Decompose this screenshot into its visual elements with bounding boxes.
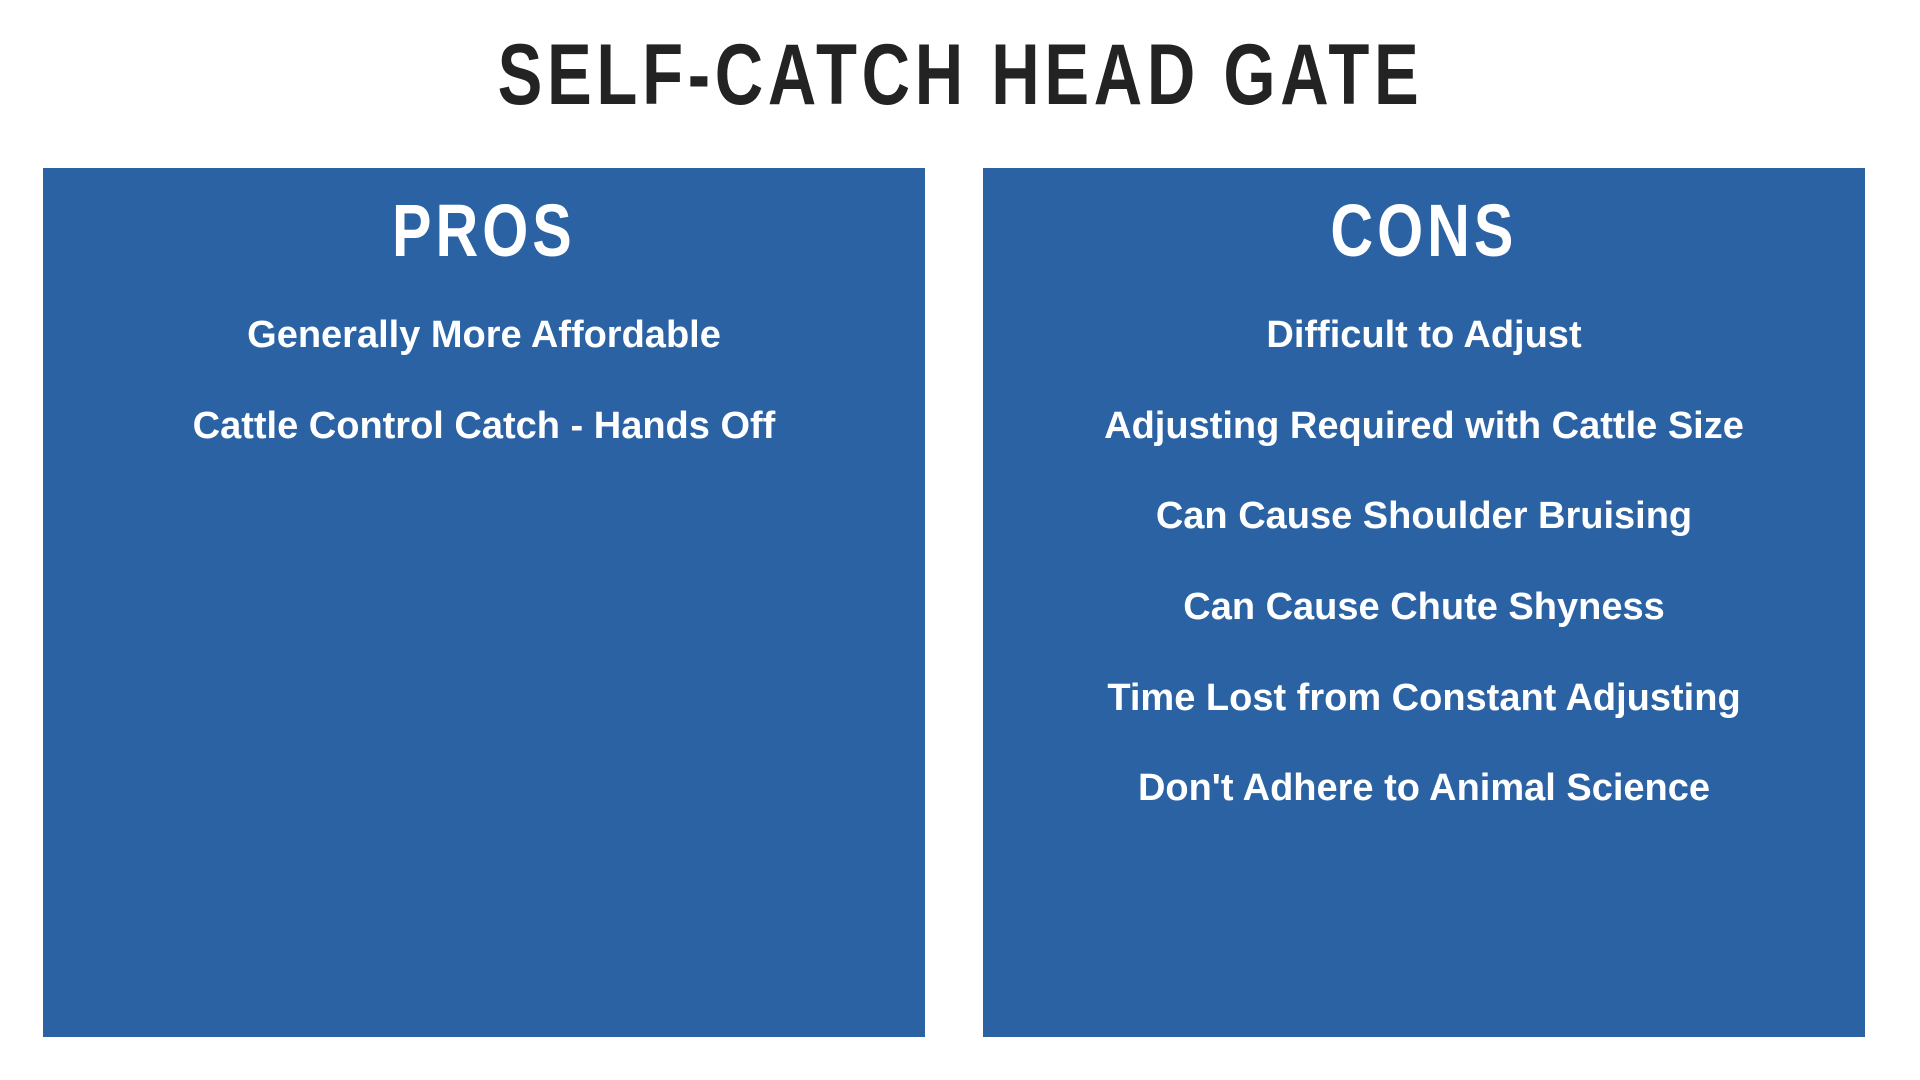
panels-container: PROS Generally More Affordable Cattle Co… [43,168,1865,1037]
page-title: SELF-CATCH HEAD GATE [497,32,1423,118]
list-item: Time Lost from Constant Adjusting [1107,677,1740,721]
cons-list: Difficult to Adjust Adjusting Required w… [1001,314,1847,811]
pros-heading: PROS [392,194,576,268]
title-bar: SELF-CATCH HEAD GATE [0,0,1920,150]
cons-panel: CONS Difficult to Adjust Adjusting Requi… [983,168,1865,1037]
list-item: Generally More Affordable [247,314,721,358]
cons-heading: CONS [1330,194,1517,268]
list-item: Cattle Control Catch - Hands Off [193,405,776,449]
list-item: Can Cause Shoulder Bruising [1156,495,1692,539]
pros-panel: PROS Generally More Affordable Cattle Co… [43,168,925,1037]
list-item: Can Cause Chute Shyness [1183,586,1664,630]
pros-cons-infographic: SELF-CATCH HEAD GATE PROS Generally More… [0,0,1920,1080]
list-item: Don't Adhere to Animal Science [1138,767,1710,811]
list-item: Difficult to Adjust [1266,314,1581,358]
list-item: Adjusting Required with Cattle Size [1104,405,1744,449]
pros-list: Generally More Affordable Cattle Control… [61,314,907,448]
